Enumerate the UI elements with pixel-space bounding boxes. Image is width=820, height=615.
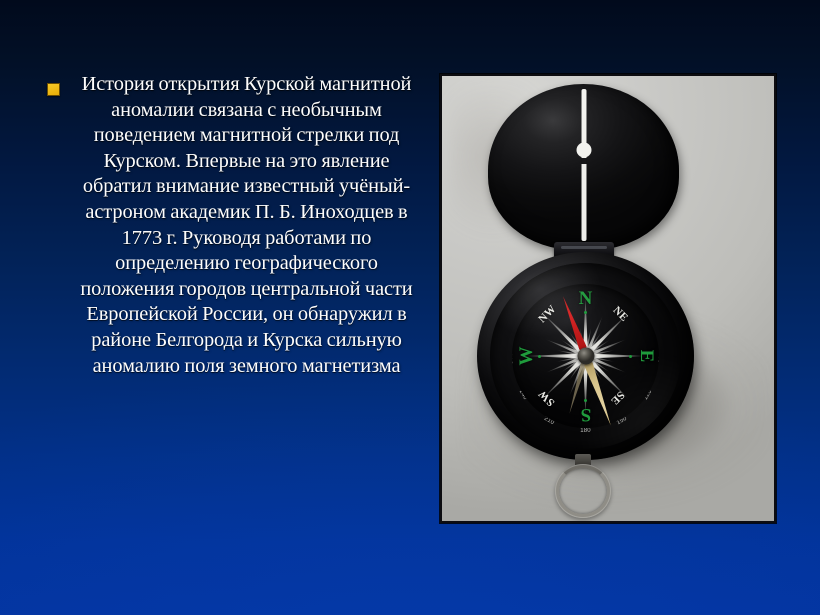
bezel-degree-label: 180 bbox=[580, 428, 591, 434]
slide-text-block: История открытия Курской магнитной анома… bbox=[47, 72, 419, 379]
cardinal-north-dot bbox=[584, 311, 587, 314]
cardinal-west: W bbox=[517, 347, 536, 366]
presentation-slide: История открытия Курской магнитной анома… bbox=[0, 0, 820, 615]
intercardinal-southwest: SW bbox=[537, 387, 557, 407]
compass-dial: N E S W NE SE SW NW bbox=[512, 284, 659, 428]
intercardinal-northwest: NW bbox=[537, 304, 559, 326]
cardinal-east-dot bbox=[629, 355, 632, 358]
lid-sight-dot bbox=[576, 143, 591, 158]
compass-case: 0306090120150180210240270300330 N E S W … bbox=[477, 252, 694, 460]
cardinal-west-dot bbox=[538, 355, 541, 358]
lid-sight-line bbox=[581, 89, 586, 241]
compass-lid bbox=[488, 84, 679, 250]
lid-sight-gap bbox=[581, 158, 586, 164]
intercardinal-northeast: NE bbox=[610, 305, 629, 324]
compass-photograph: 0306090120150180210240270300330 N E S W … bbox=[442, 76, 774, 521]
cardinal-south-dot bbox=[584, 399, 587, 402]
cardinal-east: E bbox=[637, 350, 656, 363]
intercardinal-southeast: SE bbox=[608, 389, 626, 407]
bullet-square-icon bbox=[47, 83, 60, 96]
cardinal-south: S bbox=[580, 405, 591, 424]
compass-split-ring bbox=[555, 464, 611, 518]
compass-pivot bbox=[577, 348, 594, 365]
compass-bezel: 0306090120150180210240270300330 N E S W … bbox=[490, 263, 681, 449]
compass-photo-frame: 0306090120150180210240270300330 N E S W … bbox=[440, 74, 776, 523]
slide-paragraph: История открытия Курской магнитной анома… bbox=[74, 72, 419, 379]
cardinal-north: N bbox=[579, 289, 593, 308]
